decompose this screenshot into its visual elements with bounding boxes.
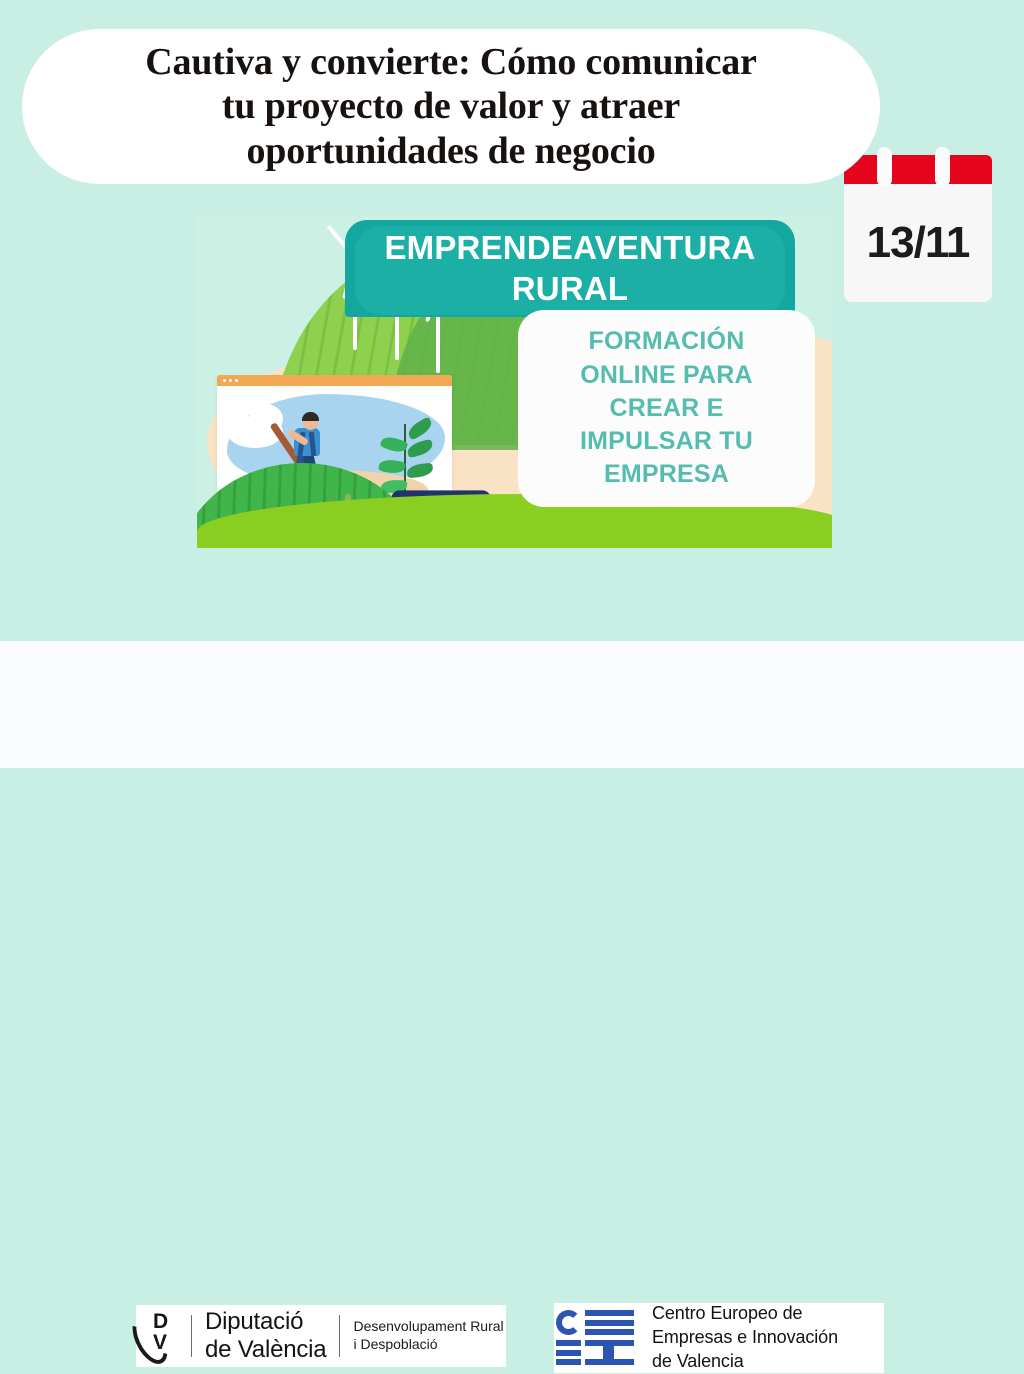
- plant-leaf: [406, 439, 435, 459]
- dpv-department-line-1: Desenvolupament Rural: [353, 1318, 503, 1336]
- banner-line-1: EMPRENDEAVENTURA: [384, 229, 755, 266]
- logo-diputacio-valencia: D V Diputació de València Desenvolupamen…: [136, 1305, 506, 1367]
- browser-dot: [229, 379, 232, 382]
- banner-title: EMPRENDEAVENTURA RURAL: [345, 228, 795, 309]
- logo-divider: [339, 1315, 340, 1357]
- title-pill: Cautiva y convierte: Cómo comunicar tu p…: [22, 29, 880, 184]
- ceei-name-line-2: Empresas e Innovación: [652, 1326, 838, 1350]
- dpv-monogram-icon: D V: [136, 1309, 182, 1363]
- ceei-name-line-3: de Valencia: [652, 1350, 838, 1374]
- logo-ceei-valencia: Centro Europeo de Empresas e Innovación …: [554, 1303, 884, 1373]
- dpv-letters: D V: [153, 1311, 168, 1354]
- info-line-3: CREAR E: [610, 394, 724, 422]
- page-title: Cautiva y convierte: Cómo comunicar tu p…: [22, 40, 880, 172]
- ceei-row-ei: [554, 1340, 636, 1365]
- course-description-box: FORMACIÓN ONLINE PARA CREAR E IMPULSAR T…: [518, 310, 815, 507]
- ceei-letter-e2: [556, 1340, 581, 1365]
- ceei-letter-c: [556, 1310, 581, 1335]
- calendar-body: 13/11: [844, 184, 992, 302]
- browser-titlebar: [217, 375, 452, 386]
- info-line-2: ONLINE PARA: [580, 361, 753, 389]
- info-line-5: EMPRESA: [604, 460, 729, 488]
- dpv-letter-d: D: [153, 1311, 168, 1332]
- course-description-text: FORMACIÓN ONLINE PARA CREAR E IMPULSAR T…: [570, 325, 763, 491]
- dpv-name-line-1: Diputació: [205, 1308, 326, 1336]
- dpv-letter-v: V: [153, 1332, 168, 1353]
- dpv-name-line-2: de València: [205, 1336, 326, 1364]
- browser-dot: [235, 379, 238, 382]
- title-line-2: tu proyecto de valor y atraer: [56, 84, 846, 128]
- ceei-row-ce: [554, 1310, 636, 1335]
- logo-divider: [191, 1315, 192, 1357]
- info-line-4: IMPULSAR TU: [580, 427, 753, 455]
- title-line-1: Cautiva y convierte: Cómo comunicar: [56, 40, 846, 84]
- poster-canvas: Cautiva y convierte: Cómo comunicar tu p…: [0, 0, 1024, 768]
- plant-leaf: [405, 416, 434, 440]
- ceei-name: Centro Europeo de Empresas e Innovación …: [652, 1302, 838, 1373]
- footer-bar: D V Diputació de València Desenvolupamen…: [0, 641, 1024, 768]
- event-date: 13/11: [867, 218, 970, 268]
- program-banner: EMPRENDEAVENTURA RURAL: [345, 220, 795, 317]
- dpv-department: Desenvolupament Rural i Despoblació: [353, 1318, 503, 1353]
- banner-line-2: RURAL: [512, 270, 628, 307]
- ceei-name-line-1: Centro Europeo de: [652, 1302, 838, 1326]
- browser-dot: [223, 379, 226, 382]
- dpv-department-line-2: i Despoblació: [353, 1336, 503, 1354]
- title-line-3: oportunidades de negocio: [56, 129, 846, 173]
- info-line-1: FORMACIÓN: [589, 327, 745, 355]
- dpv-name: Diputació de València: [205, 1308, 326, 1364]
- farmer-hair: [302, 412, 319, 421]
- ceei-letter-e: [585, 1310, 634, 1335]
- ceei-mark-icon: [554, 1310, 636, 1366]
- calendar-ring-right: [935, 147, 950, 187]
- ceei-letter-i: [585, 1340, 634, 1365]
